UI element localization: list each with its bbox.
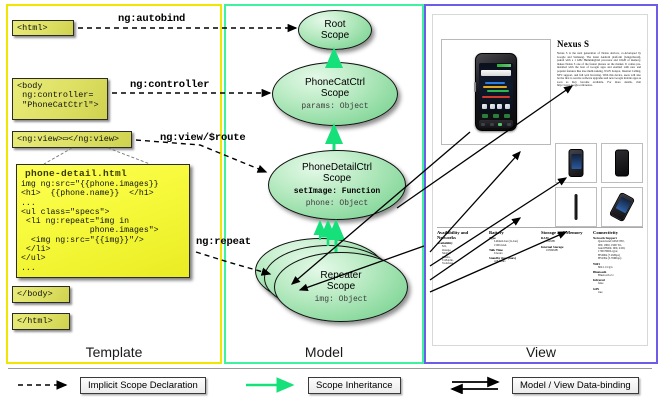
specs-value: 428 hours: [494, 260, 539, 263]
thumb-edge-image: [575, 194, 578, 220]
scope-phonecatctrl: PhoneCatCtrlScope params: Object: [272, 62, 398, 126]
panel-model-caption: Model: [226, 344, 422, 360]
nav-home-key: [498, 123, 502, 126]
phone-dock-row: [479, 113, 513, 119]
nav-search-key: [507, 123, 511, 126]
code-box-body-open: <body ng:controller= "PhoneCatCtrl">: [12, 78, 108, 120]
phone-status-bar: [497, 64, 511, 67]
legend-item-data-binding: Model / View Data-binding: [448, 376, 639, 394]
specs-table: Availability and Networks Availability M…: [437, 227, 643, 294]
phone-nav-bar: [479, 120, 513, 128]
app-icon-3: [497, 104, 502, 109]
dock-icon-apps: [493, 114, 499, 118]
specs-column-availability: Availability and Networks Availability M…: [437, 230, 487, 294]
dock-icon-browser: [504, 114, 510, 118]
phone-wallpaper-stripe-yellow: [483, 86, 507, 88]
nav-menu-key: [490, 123, 494, 126]
scope-phonecatctrl-title: PhoneCatCtrlScope: [305, 77, 365, 99]
edge-label-repeat: ng:repeat: [196, 236, 251, 248]
thumbnail-phone-front[interactable]: [555, 143, 597, 183]
specs-value: Bluetooth 2.1: [598, 274, 643, 277]
legend-label-implicit-scope: Implicit Scope Declaration: [80, 377, 206, 394]
diagram-canvas: Template Model View <html> <body ng:cont…: [0, 0, 660, 420]
edge-label-controller: ng:controller: [130, 79, 209, 91]
phone-hero-image: [475, 53, 517, 131]
specs-heading-connectivity: Connectivity: [593, 230, 643, 235]
scope-phonedetailctrl-prop-setimage: setImage: Function: [294, 187, 380, 196]
scope-root-title: RootScope: [321, 19, 349, 41]
rendered-phone-detail-page: Nexus S Nexus S is the next generation o…: [432, 14, 648, 346]
hero-image-frame[interactable]: [441, 39, 551, 145]
thumbnail-phone-back[interactable]: [601, 143, 643, 183]
phone-side-button: [474, 82, 476, 92]
code-box-body-close: </body>: [12, 286, 70, 303]
specs-column-storage: Storage and Memory RAM 512MB Internal St…: [541, 230, 591, 294]
specs-list-availability: Availability M1, Orange, Singtel, Telstr…: [437, 241, 487, 265]
legend-item-scope-inheritance: Scope Inheritance: [244, 376, 401, 394]
scope-repeater: RepeaterScope img: Object: [274, 252, 408, 322]
thumb-back-image: [615, 150, 629, 177]
code-box-phone-detail: phone-detail.html img ng:src="{{phone.im…: [16, 164, 190, 278]
thumbnail-grid: [555, 143, 643, 227]
legend: Implicit Scope Declaration Scope Inherit…: [0, 372, 660, 416]
specs-value: HSUPA (5.76Mbps): [598, 257, 643, 260]
phone-detail-code: img ng:src="{{phone.images}} <h1> {{phon…: [17, 180, 189, 273]
legend-item-implicit-scope: Implicit Scope Declaration: [16, 376, 206, 394]
edge-label-autobind: ng:autobind: [118, 13, 185, 25]
specs-value: 16384MB: [546, 249, 591, 252]
specs-heading-storage: Storage and Memory: [541, 230, 591, 235]
phone-search-widget: [481, 70, 511, 76]
thumb-front-image: [569, 149, 584, 177]
phone-wallpaper-stripe-blue: [485, 82, 505, 84]
specs-heading-availability: Availability and Networks: [437, 230, 487, 240]
phone-detail-filename: phone-detail.html: [17, 165, 189, 180]
view-phone-description: Nexus S is the next generation of Nexus …: [557, 52, 641, 88]
legend-double-arrow-icon: [448, 376, 506, 394]
thumbnail-phone-angle[interactable]: [601, 187, 643, 227]
code-box-ng-view: <ng:view>▭</ng:view>: [12, 131, 132, 148]
scope-repeater-prop-img: img: Object: [315, 295, 368, 304]
code-box-html-close: </html>: [12, 313, 70, 330]
thumbnail-phone-edge[interactable]: [555, 187, 597, 227]
thumb-angle-image: [609, 192, 635, 222]
scope-repeater-title: RepeaterScope: [320, 270, 361, 292]
panel-template-caption: Template: [8, 344, 220, 360]
scope-phonedetailctrl-prop-phone: phone: Object: [306, 199, 368, 208]
scope-phonecatctrl-prop-params: params: Object: [301, 102, 368, 111]
specs-value: 6 hours: [494, 252, 539, 255]
panel-view-caption: View: [426, 344, 656, 360]
specs-list-connectivity: Network Support Quad-band GSM: 850, 900,…: [593, 236, 643, 294]
specs-value: true: [598, 291, 643, 294]
dock-icon-phone: [482, 114, 488, 118]
view-phone-name: Nexus S: [557, 39, 589, 49]
scope-root: RootScope: [298, 10, 372, 50]
legend-label-scope-inheritance: Scope Inheritance: [308, 377, 401, 394]
legend-green-arrow-icon: [244, 376, 302, 394]
phone-app-icon-row: [481, 102, 511, 110]
code-box-html-open: <html>: [12, 20, 74, 36]
scope-phonedetailctrl: PhoneDetailCtrlScope setImage: Function …: [268, 150, 406, 220]
specs-column-connectivity: Connectivity Network Support Quad-band G…: [593, 230, 643, 294]
specs-list-storage: RAM 512MB Internal Storage 16384MB: [541, 236, 591, 252]
specs-value: false: [598, 282, 643, 285]
edge-label-ngview: ng:view/$route: [160, 132, 245, 144]
scope-phonedetailctrl-title: PhoneDetailCtrlScope: [302, 162, 372, 184]
specs-value: 802.11 b/g/n: [598, 266, 643, 269]
nav-back-key: [481, 123, 485, 126]
specs-value: 512MB: [546, 240, 591, 243]
app-icon-4: [505, 104, 510, 109]
specs-value: Vodafone: [442, 262, 487, 265]
specs-column-battery: Battery Type Lithium Ion (Li-Ion) 1500 m…: [489, 230, 539, 294]
legend-label-data-binding: Model / View Data-binding: [512, 377, 639, 394]
legend-dashed-arrow-icon: [16, 376, 74, 394]
phone-wallpaper-stripe-green: [487, 90, 509, 92]
phone-screen: [479, 63, 513, 113]
app-icon-2: [490, 104, 495, 109]
specs-value: 1500 mAh: [494, 244, 539, 247]
phone-wallpaper-stripe-red: [482, 96, 510, 98]
legend-divider: [8, 368, 652, 369]
specs-list-battery: Type Lithium Ion (Li-Ion) 1500 mAh Talk …: [489, 236, 539, 264]
specs-heading-battery: Battery: [489, 230, 539, 235]
app-icon-1: [482, 104, 487, 109]
